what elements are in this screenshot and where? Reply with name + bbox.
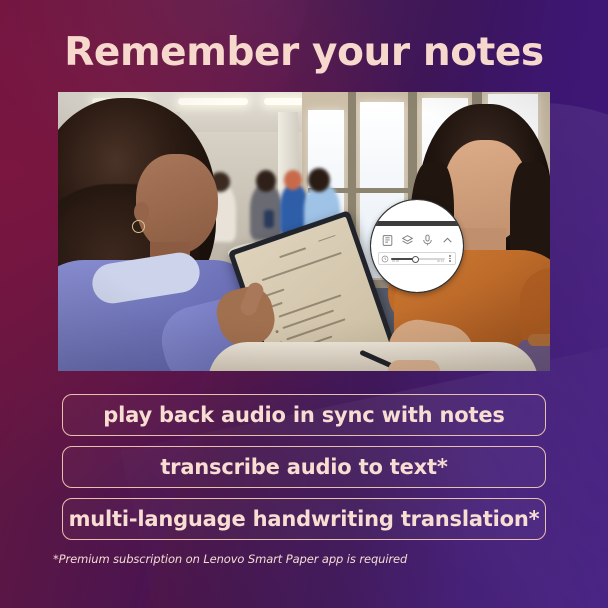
notes-toolbar — [371, 230, 463, 250]
page-title: Remember your notes — [0, 30, 608, 75]
app-topbar — [371, 221, 463, 226]
magnifier-callout: 00:08 00:32 — [370, 199, 464, 293]
feature-pill-transcribe-audio[interactable]: transcribe audio to text* — [62, 446, 546, 488]
audio-progress-slider[interactable]: 00:08 00:32 — [391, 254, 445, 263]
photo-vignette — [58, 92, 550, 371]
more-vertical-icon[interactable] — [447, 254, 453, 263]
promo-banner: Remember your notes — [0, 0, 608, 608]
audio-player-bar[interactable]: 00:08 00:32 — [378, 252, 456, 265]
audio-elapsed-time: 00:08 — [392, 260, 399, 263]
chevron-up-icon[interactable] — [441, 234, 454, 247]
feature-pill-play-back-audio[interactable]: play back audio in sync with notes — [62, 394, 546, 436]
audio-total-time: 00:32 — [437, 260, 444, 263]
footnote-disclaimer: *Premium subscription on Lenovo Smart Pa… — [53, 552, 407, 566]
layers-icon[interactable] — [401, 234, 414, 247]
clock-icon — [381, 255, 389, 263]
slider-knob[interactable] — [412, 256, 419, 263]
hero-photo — [58, 92, 550, 371]
microphone-icon[interactable] — [421, 234, 434, 247]
grid-notes-icon[interactable] — [381, 234, 394, 247]
feature-pill-handwriting-translation[interactable]: multi-language handwriting translation* — [62, 498, 546, 540]
